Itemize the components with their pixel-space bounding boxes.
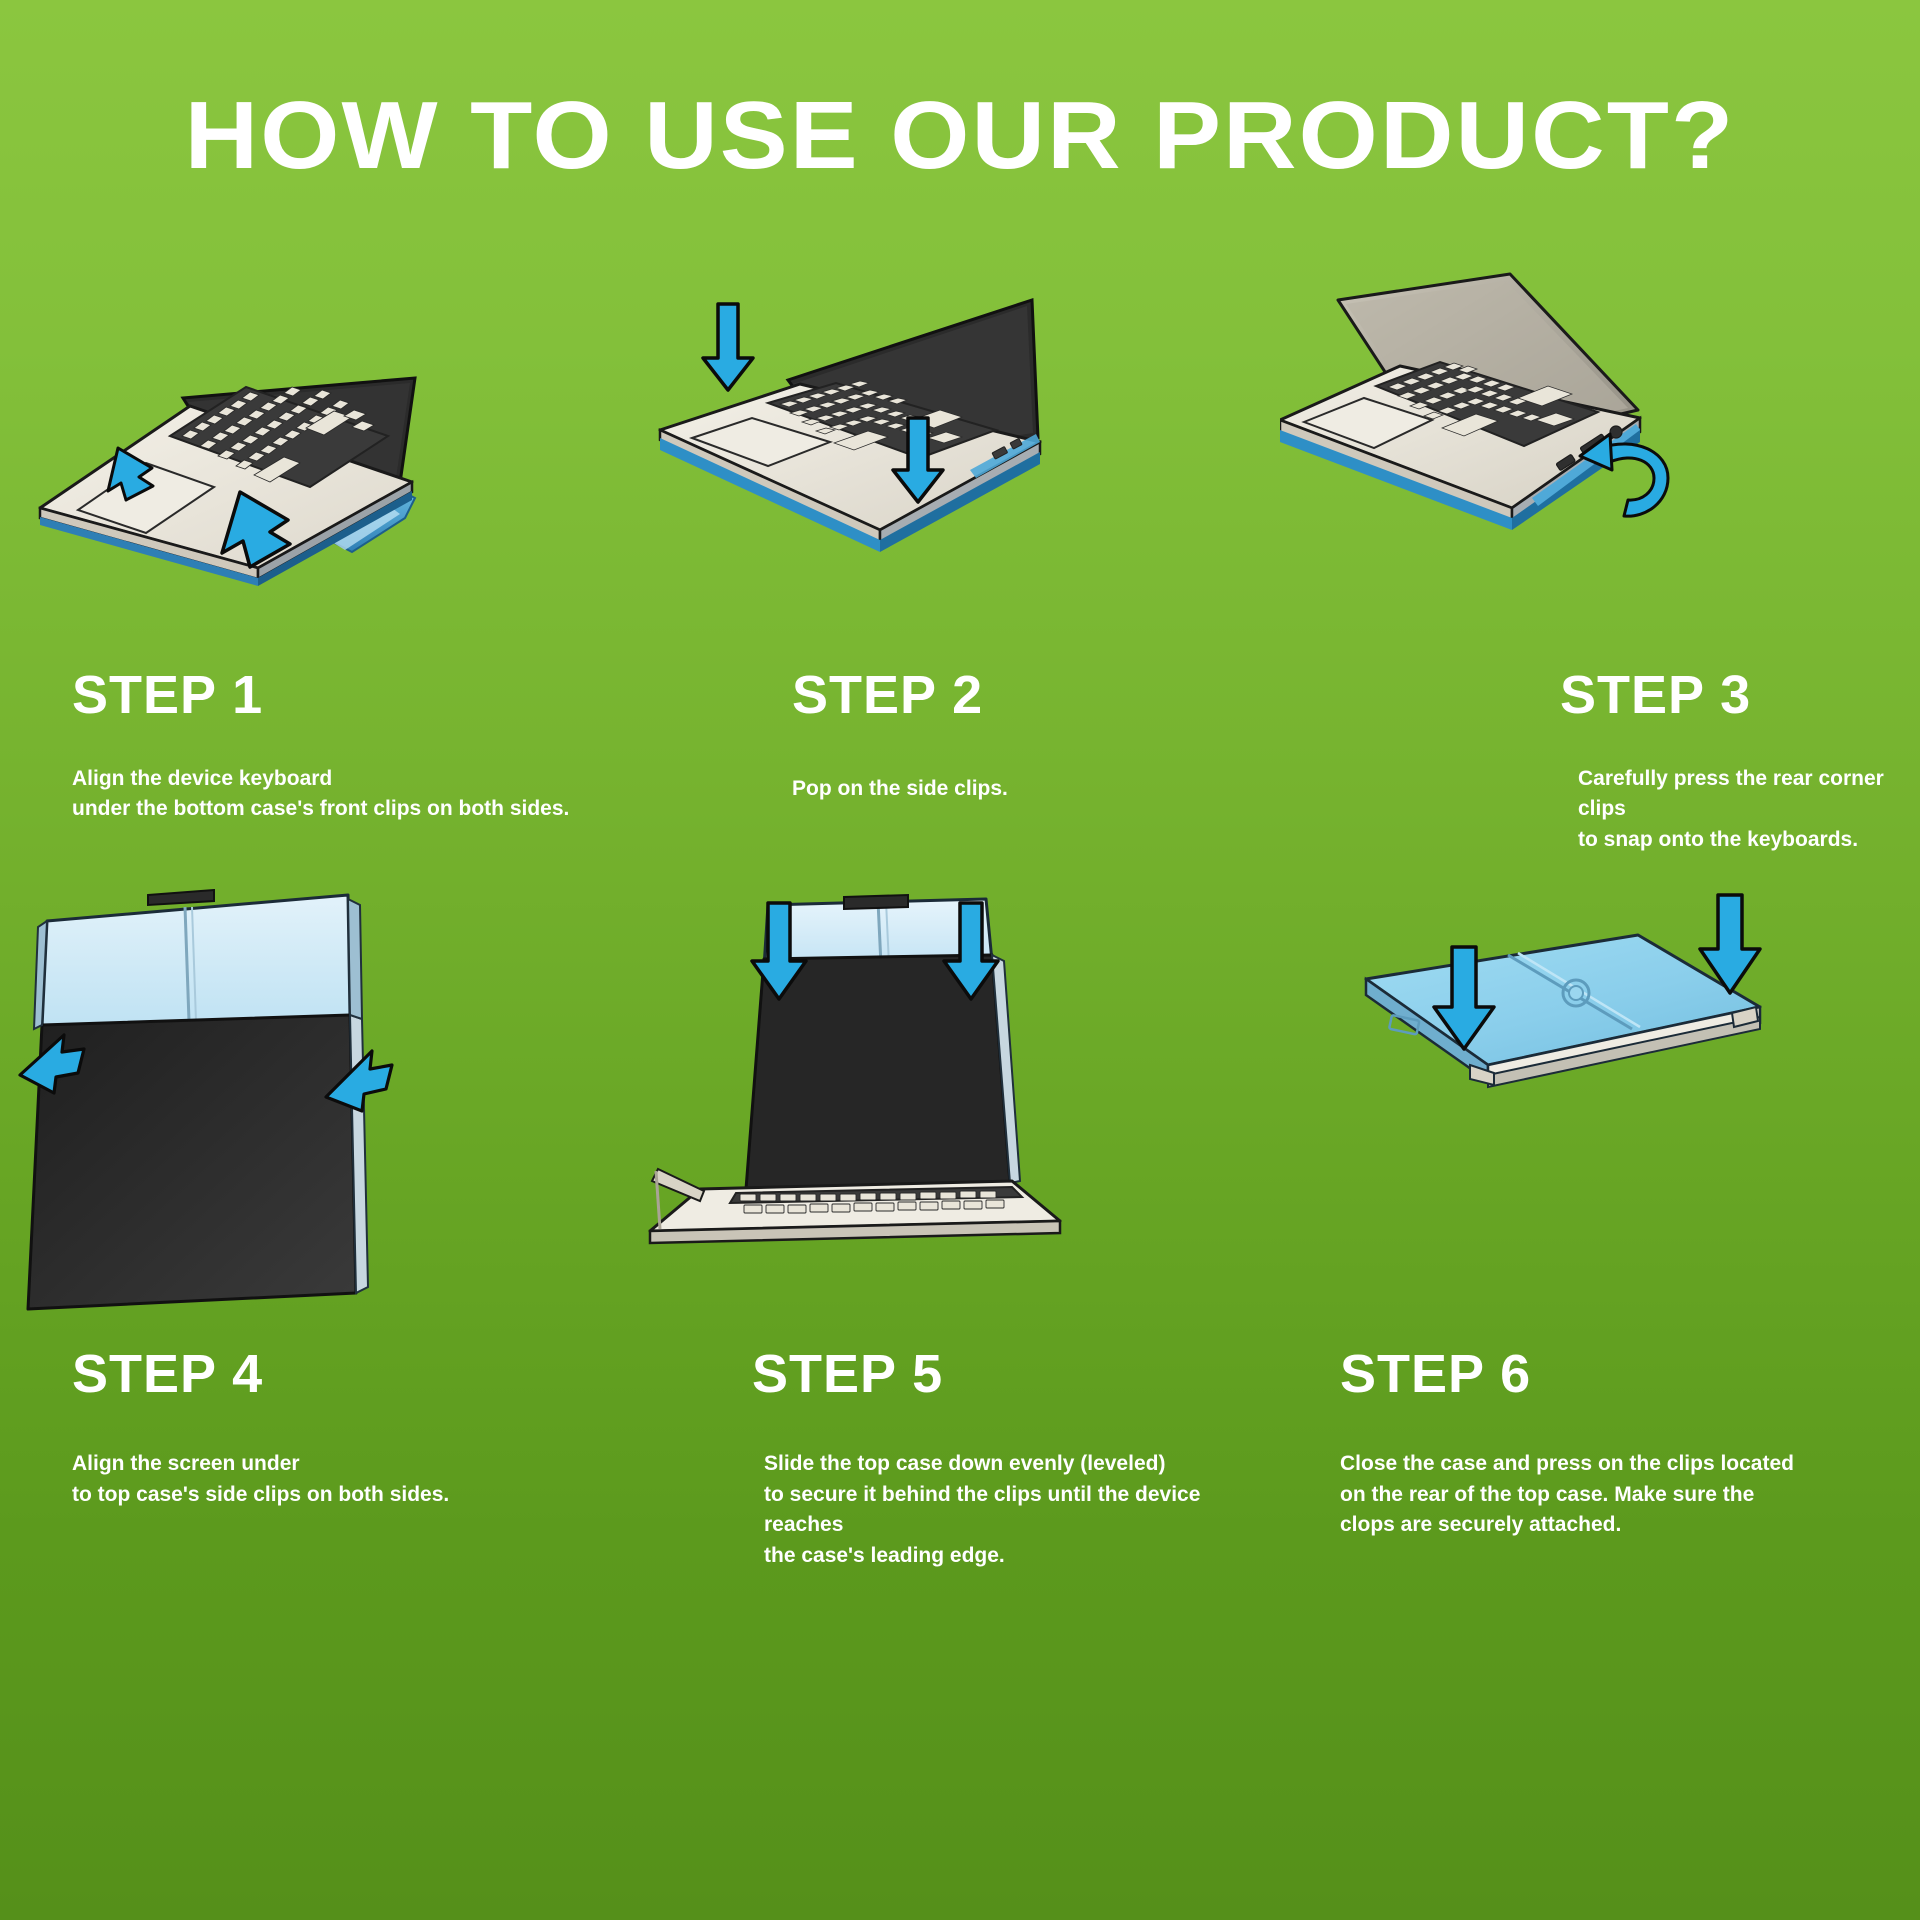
steps-grid: STEP 1 Align the device keyboard under t… xyxy=(0,270,1920,1571)
step-5-label: STEP 5 xyxy=(752,1347,1280,1401)
step-3-label: STEP 3 xyxy=(1560,668,1920,722)
closed-case-clips-icon xyxy=(1280,889,1920,1319)
step-3-description: Carefully press the rear corner clips to… xyxy=(1578,764,1920,855)
steps-row-bottom: STEP 4 Align the screen under to top cas… xyxy=(0,889,1920,1571)
step-6-illustration xyxy=(1280,889,1920,1319)
step-2-description: Pop on the side clips. xyxy=(792,774,1280,804)
step-card-6: STEP 6 Close the case and press on the c… xyxy=(1280,889,1920,1571)
step-2-illustration xyxy=(640,270,1280,620)
step-1-illustration xyxy=(0,270,640,620)
step-4-description: Align the screen under to top case's sid… xyxy=(72,1449,640,1510)
screen-top-case-align-icon xyxy=(0,889,640,1319)
step-4-illustration xyxy=(0,889,640,1319)
step-2-text: STEP 2 Pop on the side clips. xyxy=(640,620,1280,804)
step-card-3: STEP 3 Carefully press the rear corner c… xyxy=(1280,270,1920,855)
step-4-text: STEP 4 Align the screen under to top cas… xyxy=(0,1319,640,1510)
step-6-label: STEP 6 xyxy=(1340,1347,1920,1401)
step-2-label: STEP 2 xyxy=(792,668,1280,722)
rear-corner-clip-icon xyxy=(1280,270,1920,620)
step-card-1: STEP 1 Align the device keyboard under t… xyxy=(0,270,640,855)
step-5-description: Slide the top case down evenly (leveled)… xyxy=(764,1449,1280,1571)
step-5-illustration xyxy=(640,889,1280,1319)
steps-row-top: STEP 1 Align the device keyboard under t… xyxy=(0,270,1920,855)
direction-arrow-down-1 xyxy=(703,304,753,390)
rotate-clip-arrow xyxy=(1580,434,1668,516)
step-3-illustration xyxy=(1280,270,1920,620)
step-6-text: STEP 6 Close the case and press on the c… xyxy=(1280,1319,1920,1540)
laptop-side-clips-icon xyxy=(640,270,1280,620)
page-title: HOW TO USE OUR PRODUCT? xyxy=(0,88,1920,184)
step-6-description: Close the case and press on the clips lo… xyxy=(1340,1449,1920,1540)
step-1-description: Align the device keyboard under the bott… xyxy=(72,764,640,825)
infographic-poster: HOW TO USE OUR PRODUCT? xyxy=(0,0,1920,1920)
laptop-open-angled-icon xyxy=(0,270,640,620)
step-3-text: STEP 3 Carefully press the rear corner c… xyxy=(1280,620,1920,855)
step-1-text: STEP 1 Align the device keyboard under t… xyxy=(0,620,640,825)
step-card-2: STEP 2 Pop on the side clips. xyxy=(640,270,1280,855)
step-card-4: STEP 4 Align the screen under to top cas… xyxy=(0,889,640,1571)
step-4-label: STEP 4 xyxy=(72,1347,640,1401)
step-card-5: STEP 5 Slide the top case down evenly (l… xyxy=(640,889,1280,1571)
step-1-label: STEP 1 xyxy=(72,668,640,722)
slide-top-case-icon xyxy=(640,889,1280,1319)
step-5-text: STEP 5 Slide the top case down evenly (l… xyxy=(640,1319,1280,1571)
